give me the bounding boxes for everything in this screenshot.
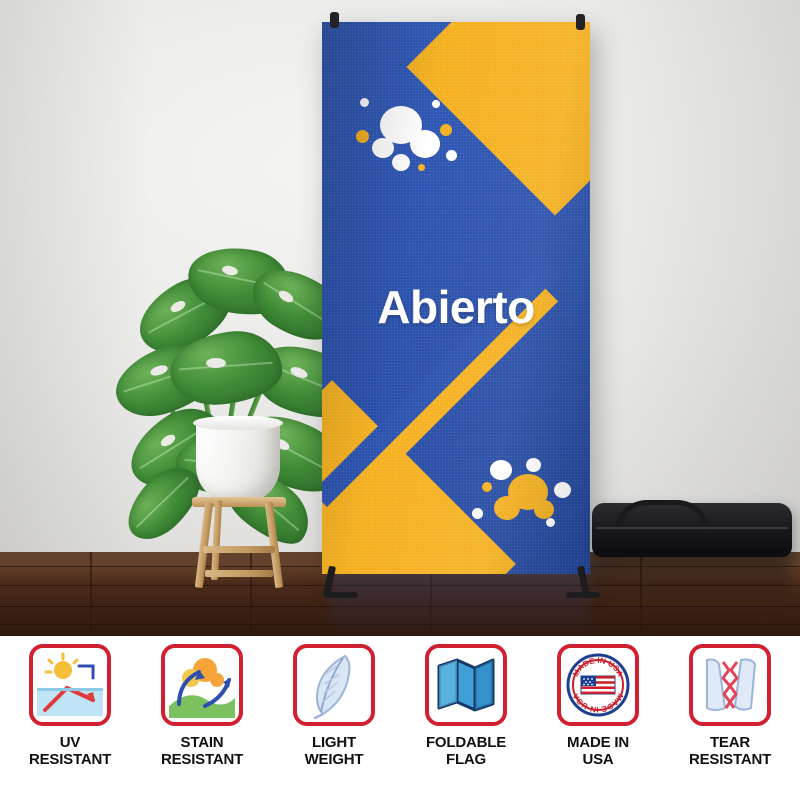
splatter-yellow-accent — [440, 124, 452, 136]
splatter-white — [526, 458, 541, 472]
plant-stand-rail — [205, 570, 273, 577]
banner-foot-left-base — [324, 592, 358, 598]
carry-bag-seam — [596, 527, 788, 529]
banner-hook-right — [576, 14, 585, 30]
room-scene: Abierto — [0, 0, 800, 636]
banner-graphic: Abierto — [322, 22, 590, 574]
banner-headline: Abierto — [322, 280, 590, 334]
feature-label: STAIN RESISTANT — [161, 735, 243, 769]
feature-uv-resistant: UV RESISTANT — [8, 644, 132, 800]
splatter-white — [546, 518, 555, 527]
uv-sun-icon — [29, 644, 111, 726]
corner-accent-top-right — [407, 22, 590, 215]
plant-stand-rail — [203, 546, 275, 553]
stain-droplet-icon — [161, 644, 243, 726]
feature-label: MADE IN USA — [567, 735, 629, 769]
feature-label: FOLDABLE FLAG — [426, 735, 506, 769]
feature-foldable-flag: FOLDABLE FLAG — [404, 644, 528, 800]
made-in-usa-badge-icon: MADE IN USA MADE IN USA — [557, 644, 639, 726]
splatter-white — [392, 154, 410, 171]
splatter-white — [372, 138, 394, 158]
splatter-yellow-accent — [418, 164, 425, 171]
banner-hook-left — [330, 12, 339, 28]
feature-label: LIGHT WEIGHT — [305, 735, 364, 769]
banner-foot-right-base — [566, 592, 600, 598]
feature-made-in-usa: MADE IN USA MADE IN USA MADE IN USA — [536, 644, 660, 800]
splatter-white — [410, 130, 440, 158]
splatter-white — [554, 482, 571, 498]
splatter-yellow — [494, 496, 520, 520]
feature-tear-resistant: TEAR RESISTANT — [668, 644, 792, 800]
product-photo: Abierto — [0, 0, 800, 800]
splatter-white — [490, 460, 512, 480]
plant-pot — [196, 420, 280, 502]
splatter-white — [446, 150, 457, 161]
splatter-white — [360, 98, 369, 107]
folded-map-icon — [425, 644, 507, 726]
feature-label: UV RESISTANT — [29, 735, 111, 769]
splatter-white — [472, 508, 483, 519]
splatter-yellow — [482, 482, 492, 492]
bag-reflection — [585, 552, 790, 608]
feature-bar: UV RESISTANT STAIN RESISTANT — [0, 636, 800, 800]
feature-light-weight: LIGHT WEIGHT — [272, 644, 396, 800]
feature-label: TEAR RESISTANT — [689, 735, 771, 769]
splatter-yellow — [534, 500, 554, 519]
splatter-yellow-accent — [356, 130, 369, 143]
feature-stain-resistant: STAIN RESISTANT — [140, 644, 264, 800]
wall-shadow-right — [590, 0, 800, 552]
tear-fabric-icon — [689, 644, 771, 726]
feather-icon — [293, 644, 375, 726]
plant-pot-rim — [193, 416, 283, 430]
splatter-white — [432, 100, 440, 108]
